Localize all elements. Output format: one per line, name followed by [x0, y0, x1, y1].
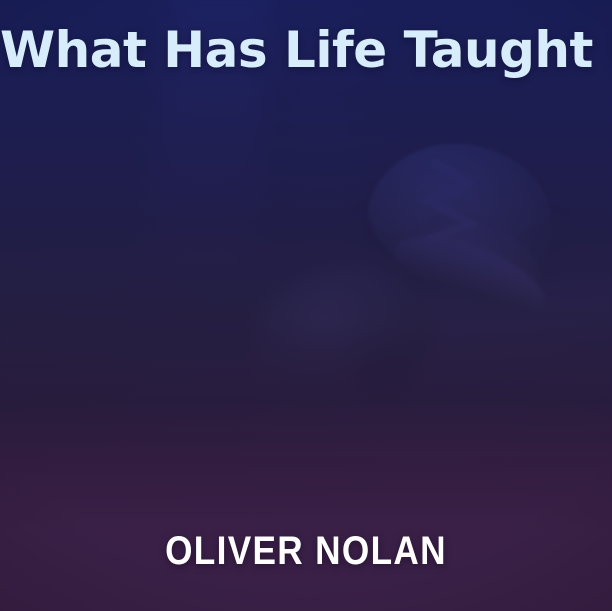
vignette: [0, 0, 612, 611]
album-title: What Has Life Taught Us?: [0, 22, 612, 78]
album-cover: What Has Life Taught Us? OLIVER NOLAN: [0, 0, 612, 611]
artist-name: OLIVER NOLAN: [37, 529, 576, 574]
